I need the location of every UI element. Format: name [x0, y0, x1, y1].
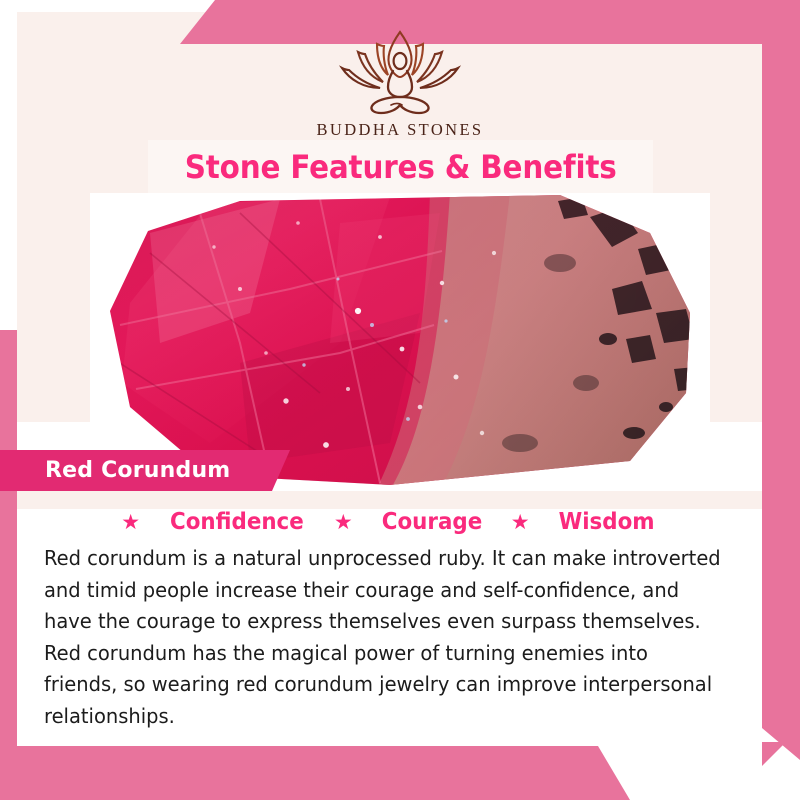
page-title: Stone Features & Benefits [185, 148, 617, 186]
keyword-wisdom: Wisdom [558, 509, 654, 535]
lotus-meditation-icon [320, 24, 480, 116]
title-plate: Stone Features & Benefits [148, 140, 653, 193]
keyword-courage: Courage [382, 509, 482, 535]
stone-name-banner: Red Corundum [0, 450, 290, 491]
decorative-corner-bottom-right [762, 742, 786, 766]
keyword-confidence: Confidence [170, 509, 304, 535]
decorative-bar-left [0, 330, 17, 770]
brand-logo: BUDDHA STONES [0, 24, 800, 140]
ruby-crystal-illustration [90, 193, 710, 490]
stone-keywords: ★ Confidence ★ Courage ★ Wisdom [17, 509, 762, 535]
star-icon-2: ★ [334, 510, 353, 534]
stone-name: Red Corundum [45, 458, 230, 483]
stone-description: Red corundum is a natural unprocessed ru… [44, 543, 724, 732]
stone-photo [90, 193, 710, 490]
brand-name: BUDDHA STONES [0, 120, 800, 140]
star-icon-3: ★ [511, 510, 530, 534]
star-icon-1: ★ [121, 510, 140, 534]
decorative-band-bottom [0, 746, 800, 800]
infographic-page: BUDDHA STONES Stone Features & Benefits [0, 0, 800, 800]
cream-divider-strip [17, 491, 762, 509]
